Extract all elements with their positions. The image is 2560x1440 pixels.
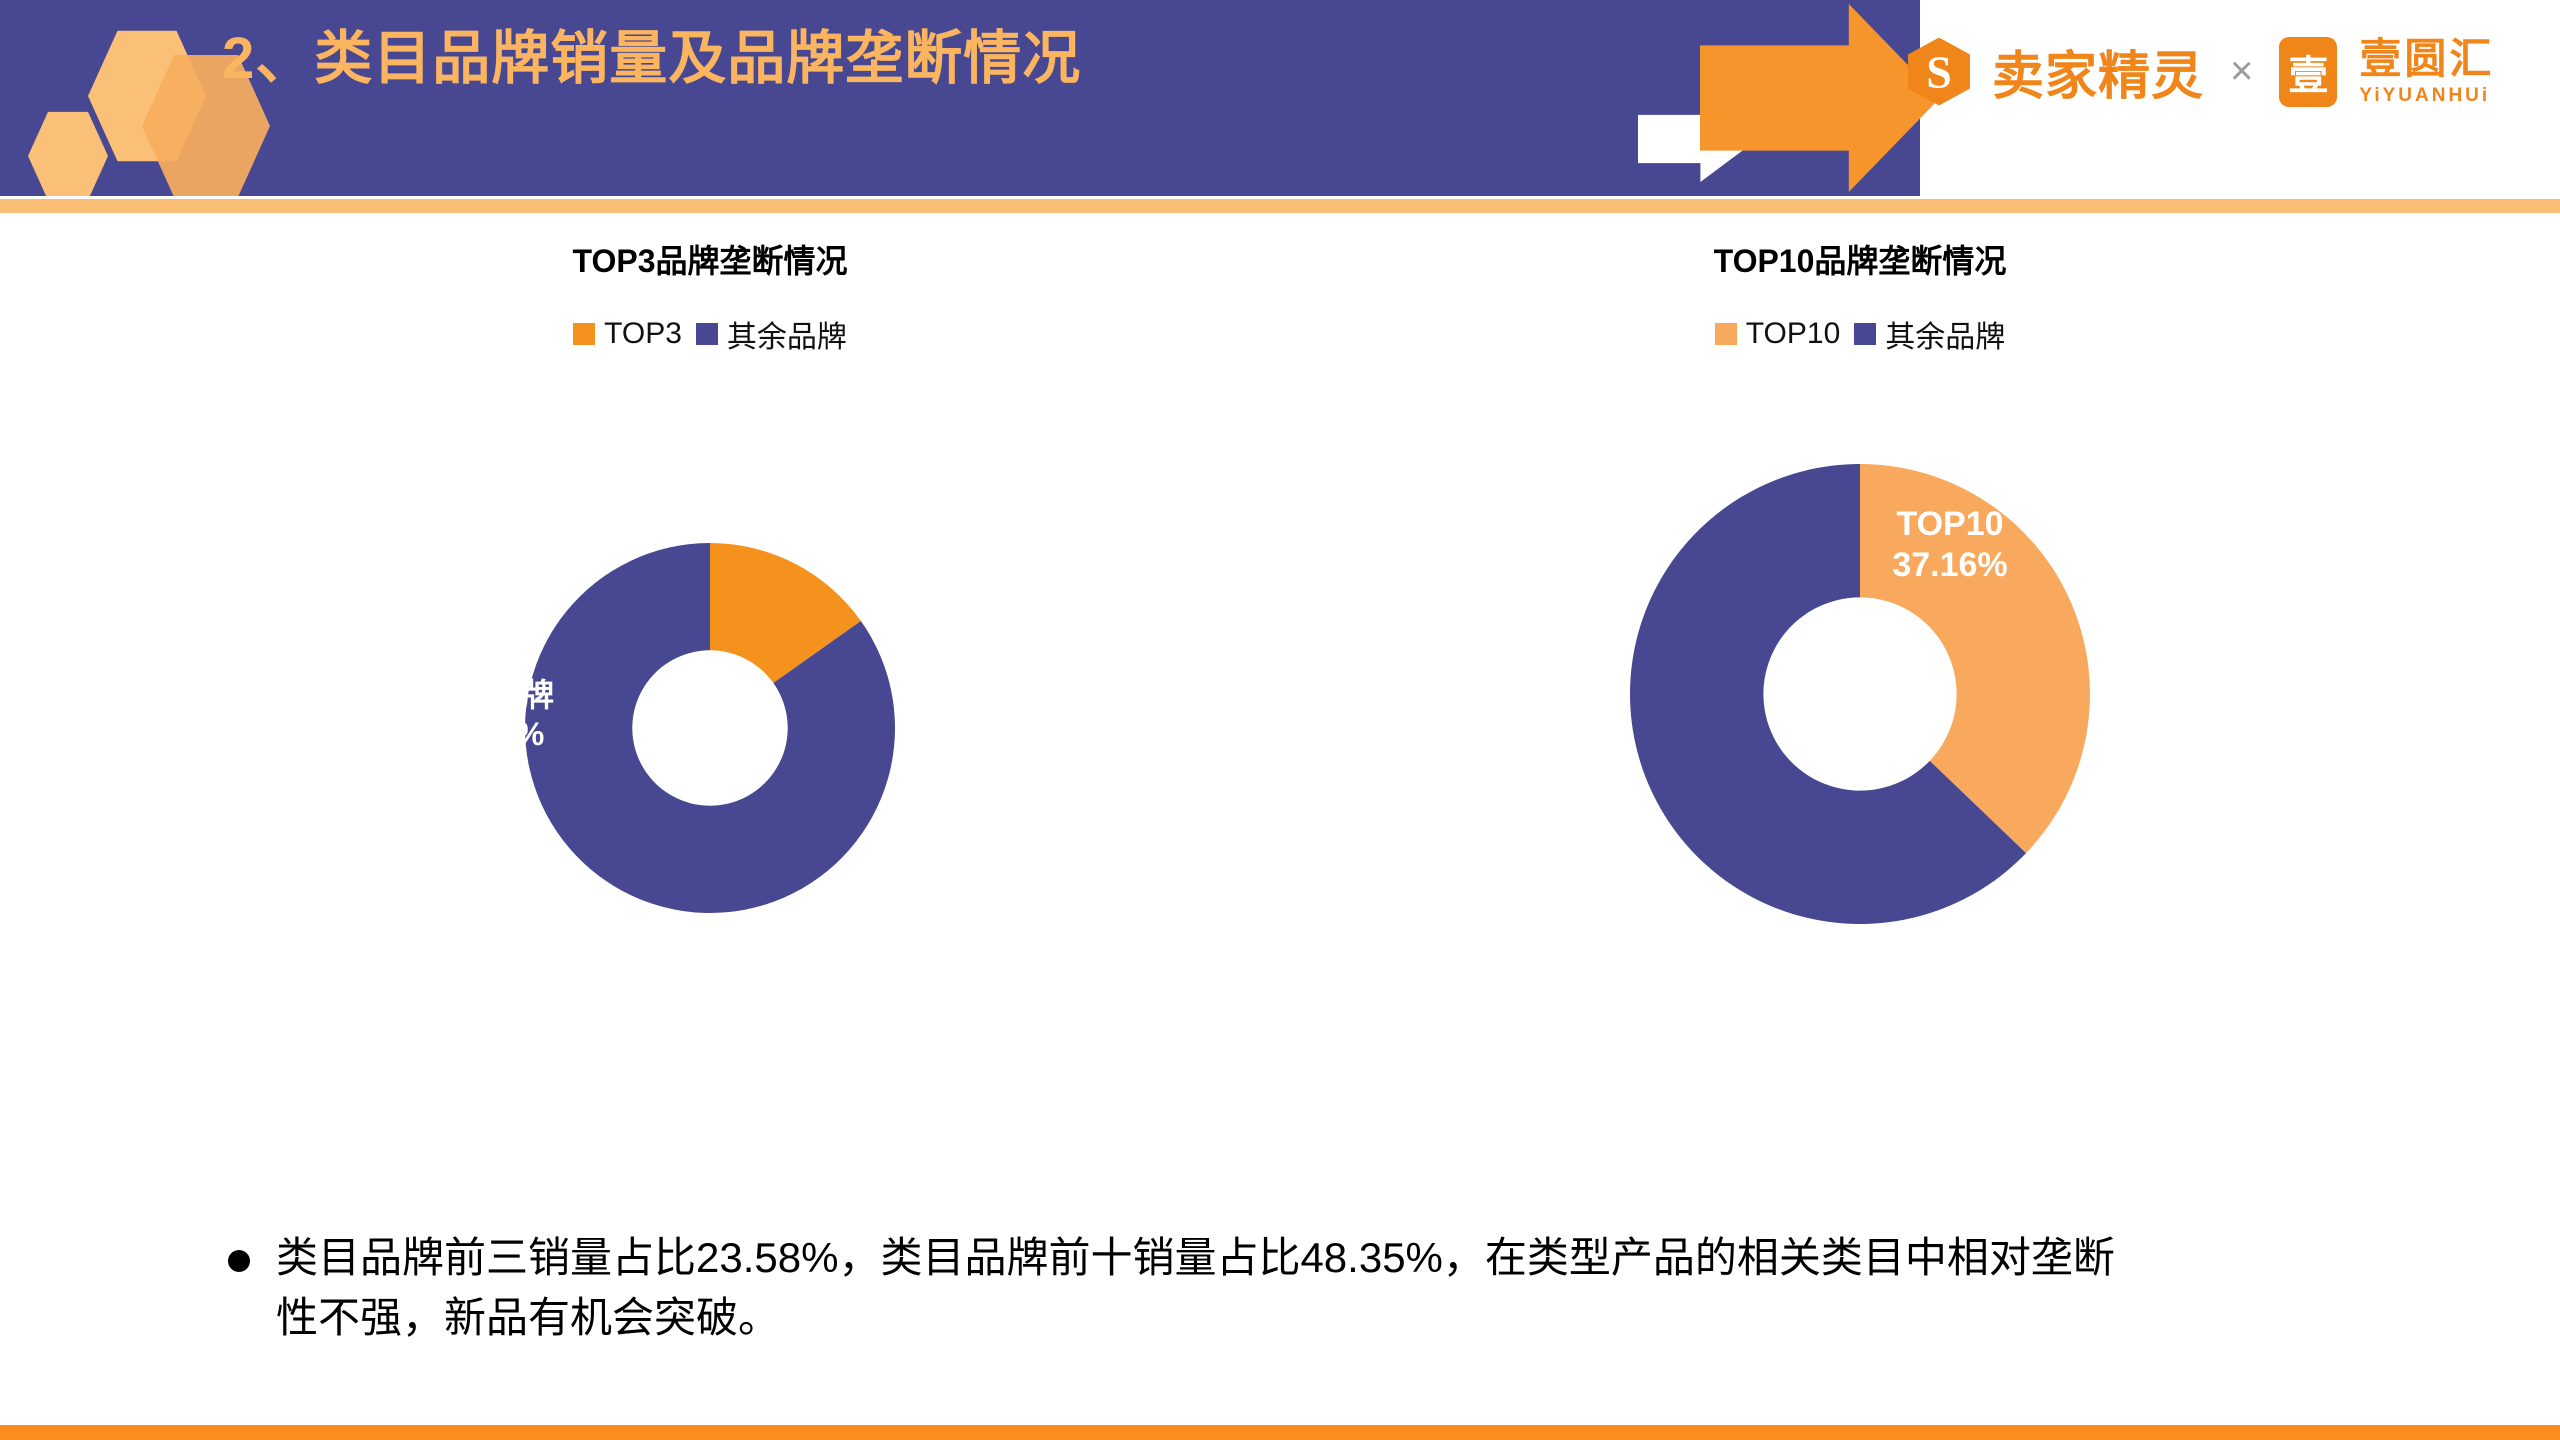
brand-secondary-name-cn: 壹圆汇 [2359,38,2494,80]
footer-divider [0,1425,2560,1440]
legend-item-top10[interactable]: TOP10 [1715,317,1841,351]
legend-swatch-icon [573,323,595,345]
legend-swatch-icon [1715,323,1737,345]
legend-swatch-icon [696,323,718,345]
donut-chart-right: TOP10 37.16% 其余品牌 62.84% [1310,374,2410,874]
legend-label: 其余品牌 [727,312,847,356]
bullet-dot-icon [228,1250,250,1272]
chart-top3-monopoly: TOP3品牌垄断情况 TOP3 其余品牌 TOP3 15.18% 其余品牌 84… [160,236,1260,808]
chart-title-left: TOP3品牌垄断情况 [160,236,1260,282]
brand-primary-name: 卖家精灵 [1992,34,2204,109]
donut-chart-left: TOP3 15.18% 其余品牌 84.82% [160,408,1260,808]
legend-item-top3[interactable]: TOP3 [573,317,682,351]
chart-top10-monopoly: TOP10品牌垄断情况 TOP10 其余品牌 TOP10 37.16% 其余品牌… [1310,236,2410,874]
page-title: 2、类目品牌销量及品牌垄断情况 [222,30,1081,88]
brand-secondary-name-en: YiYUANHUi [2359,86,2494,105]
right-arrow-icon [1700,4,1940,192]
chart-legend-right: TOP10 其余品牌 [1310,312,2410,356]
legend-item-others[interactable]: 其余品牌 [696,312,847,356]
legend-label: 其余品牌 [1885,312,2005,356]
summary-bullet-text: 类目品牌前三销量占比23.58%，类目品牌前十销量占比48.35%，在类型产品的… [276,1228,2156,1349]
brand-lockup: 卖家精灵 × 壹圆汇 YiYUANHUi [1908,34,2494,109]
legend-label: TOP10 [1746,317,1841,351]
legend-swatch-icon [1854,323,1876,345]
summary-bullet: 类目品牌前三销量占比23.58%，类目品牌前十销量占比48.35%，在类型产品的… [228,1228,2328,1349]
maijiajingling-logo-icon [1908,38,1970,106]
header-divider [0,199,2560,213]
chart-title-right: TOP10品牌垄断情况 [1310,236,2410,282]
hexagon-decor-icon [28,110,108,196]
brand-secondary-text: 壹圆汇 YiYUANHUi [2359,38,2494,105]
yiyuanhui-logo-icon [2279,37,2337,107]
brand-connector-x: × [2230,49,2253,94]
legend-item-others[interactable]: 其余品牌 [1854,312,2005,356]
chart-legend-left: TOP3 其余品牌 [160,312,1260,356]
legend-label: TOP3 [604,317,682,351]
